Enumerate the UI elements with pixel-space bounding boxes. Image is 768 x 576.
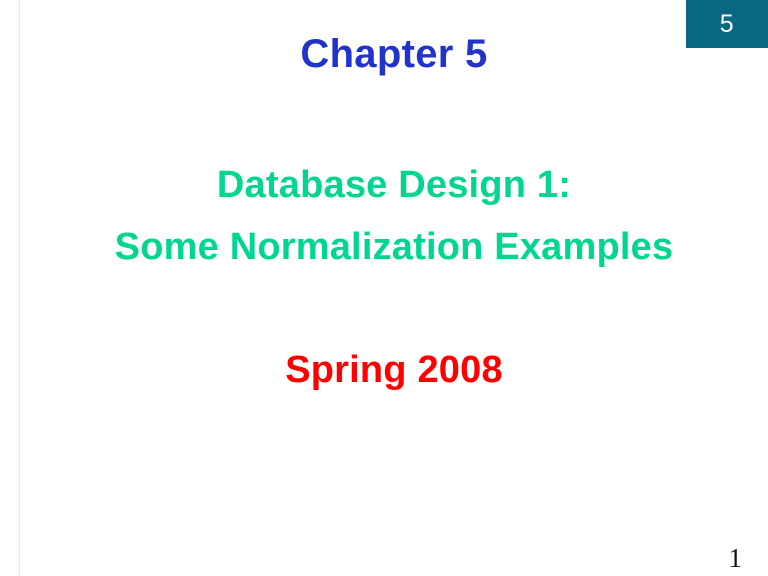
page-number: 1 [729,545,743,572]
subtitle-line-2: Some Normalization Examples [20,228,768,268]
term-label: Spring 2008 [20,351,768,391]
subtitle-line-1: Database Design 1: [20,166,768,206]
chapter-title: Chapter 5 [20,33,768,75]
slide-canvas: 5 Chapter 5 Database Design 1: Some Norm… [0,0,768,576]
slide-content: Chapter 5 Database Design 1: Some Normal… [20,0,768,576]
